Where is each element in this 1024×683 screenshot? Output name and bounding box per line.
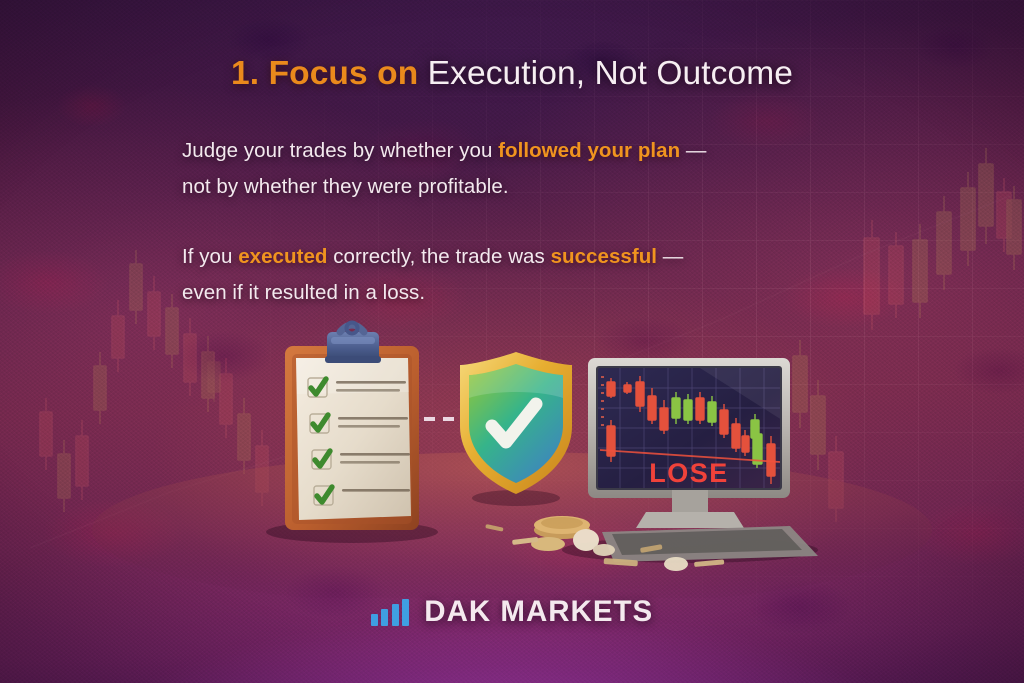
- p1-line-2: not by whether they were profitable.: [182, 175, 509, 198]
- monitor-lose-label: LOSE: [649, 458, 729, 488]
- p2-highlight-1: executed: [238, 245, 327, 268]
- p2-text-b: correctly, the trade was: [327, 245, 550, 268]
- brand-lockup: DAK MARKETS: [0, 595, 1024, 629]
- p2-line-2: even if it resulted in a loss.: [182, 281, 425, 304]
- p1-text-b: —: [680, 139, 706, 162]
- paragraph-2: If you executed correctly, the trade was…: [182, 239, 872, 311]
- brand-name: DAK MARKETS: [424, 595, 653, 629]
- paragraph-spacer: [182, 225, 872, 239]
- clipboard-illustration: [266, 323, 438, 544]
- illustration-scene: LOSE: [0, 318, 1024, 598]
- poster-canvas: 1. Focus on Execution, Not Outcome Judge…: [0, 0, 1024, 683]
- p2-text-a: If you: [182, 245, 238, 268]
- body-copy: Judge your trades by whether you followe…: [182, 133, 872, 311]
- title-plain: Execution, Not Outcome: [418, 55, 793, 92]
- p1-highlight: followed your plan: [498, 139, 680, 162]
- page-title: 1. Focus on Execution, Not Outcome: [0, 55, 1024, 93]
- p1-text-a: Judge your trades by whether you: [182, 139, 498, 162]
- title-accent: 1. Focus on: [231, 55, 418, 92]
- paragraph-1: Judge your trades by whether you followe…: [182, 133, 872, 205]
- bar-chart-logo-icon: [371, 599, 410, 626]
- p2-text-c: —: [657, 245, 683, 268]
- p2-highlight-2: successful: [551, 245, 657, 268]
